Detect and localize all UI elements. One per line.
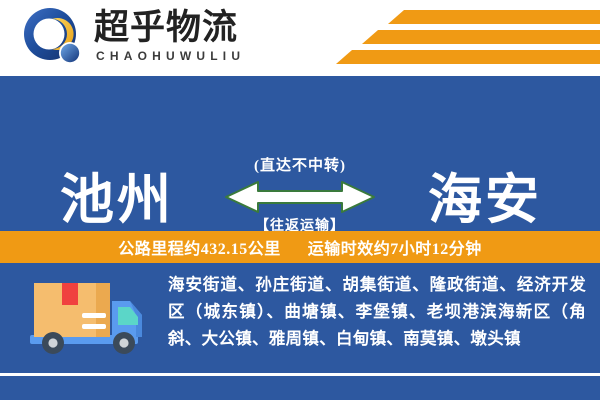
chaohu-logistics-logo-icon <box>22 6 86 70</box>
delivery-truck-icon <box>26 277 154 361</box>
destination-city: 海安 <box>428 173 542 227</box>
stripe-2 <box>362 30 600 44</box>
company-name-cn: 超乎物流 <box>94 8 245 48</box>
coverage-panel: 海安街道、孙庄街道、胡集街道、隆政街道、经济开发区（城东镇）、曲塘镇、李堡镇、老… <box>0 263 600 373</box>
duration-label: 运输时效约7小时12分钟 <box>308 241 482 258</box>
coverage-areas-text: 海安街道、孙庄街道、胡集街道、隆政街道、经济开发区（城东镇）、曲塘镇、李堡镇、老… <box>168 271 586 352</box>
route-info-bar: 公路里程约432.15公里 运输时效约7小时12分钟 <box>0 231 600 263</box>
page-header: 超乎物流 CHAOHUWULIU <box>0 0 600 76</box>
direct-route-note: (直达不中转) <box>210 157 390 175</box>
stripe-3 <box>336 50 600 64</box>
route-panel: 池州 (直达不中转) 【往返运输】 海安 <box>0 76 600 228</box>
route-arrow-block: (直达不中转) 【往返运输】 <box>210 157 390 235</box>
origin-city: 池州 <box>60 173 174 227</box>
double-headed-arrow-icon <box>210 180 390 214</box>
brand-logo-text: 超乎物流 CHAOHUWULIU <box>94 6 245 64</box>
stripe-1 <box>388 10 600 24</box>
distance-label: 公路里程约432.15公里 <box>118 241 281 258</box>
company-name-pinyin: CHAOHUWULIU <box>94 48 245 64</box>
header-decorative-stripes <box>340 10 600 68</box>
page-footer <box>0 376 600 400</box>
route-info-inner: 公路里程约432.15公里 运输时效约7小时12分钟 <box>118 235 482 259</box>
brand-logo[interactable]: 超乎物流 CHAOHUWULIU <box>22 6 245 70</box>
